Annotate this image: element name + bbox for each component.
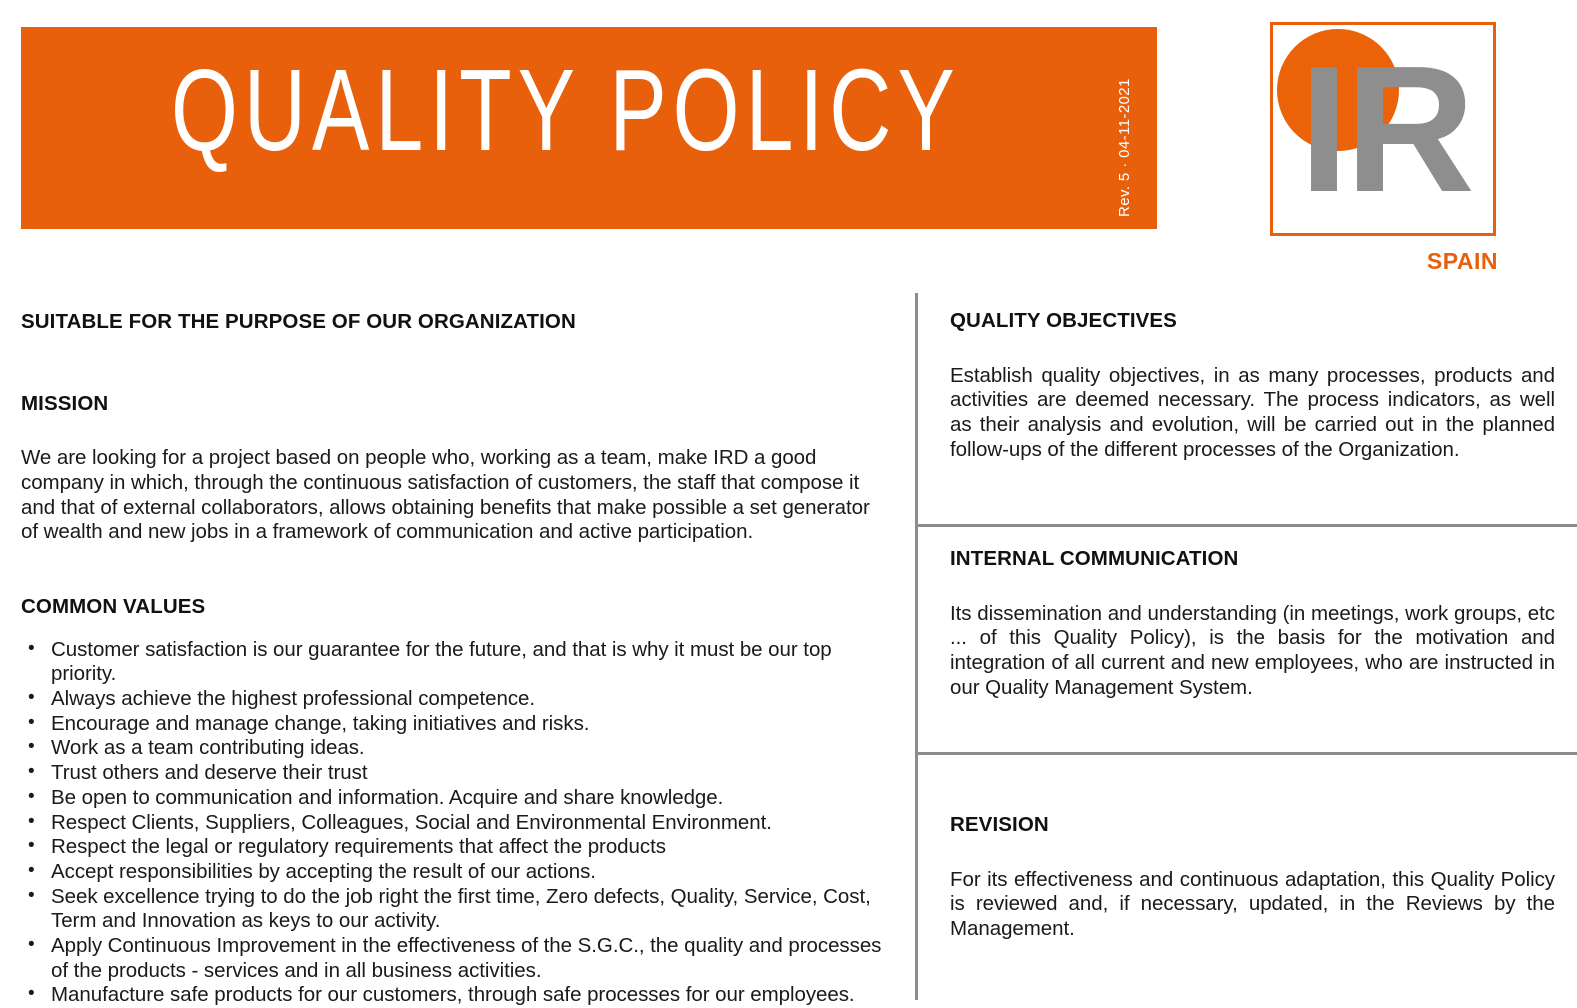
page-title: QUALITY POLICY — [171, 53, 961, 169]
revision-stamp: Rev. 5 · 04-11-2021 — [1107, 63, 1133, 233]
list-item: Respect the legal or regulatory requirem… — [21, 835, 891, 860]
mission-heading: MISSION — [21, 392, 891, 417]
quality-objectives-text: Establish quality objectives, in as many… — [950, 364, 1555, 463]
internal-communication-text: Its dissemination and understanding (in … — [950, 602, 1555, 701]
list-item: Manufacture safe products for our custom… — [21, 983, 891, 1008]
logo-frame: IR — [1270, 22, 1496, 236]
list-item: Apply Continuous Improvement in the effe… — [21, 934, 891, 983]
right-column: QUALITY OBJECTIVES Establish quality obj… — [918, 293, 1577, 1000]
list-item: Seek excellence trying to do the job rig… — [21, 885, 891, 934]
list-item: Be open to communication and information… — [21, 786, 891, 811]
list-item: Respect Clients, Suppliers, Colleagues, … — [21, 811, 891, 836]
list-item: Accept responsibilities by accepting the… — [21, 860, 891, 885]
list-item: Always achieve the highest professional … — [21, 687, 891, 712]
left-column-title: SUITABLE FOR THE PURPOSE OF OUR ORGANIZA… — [21, 310, 891, 335]
common-values-list: Customer satisfaction is our guarantee f… — [21, 638, 891, 1008]
document-body: SUITABLE FOR THE PURPOSE OF OUR ORGANIZA… — [0, 293, 1577, 1000]
internal-communication-section: INTERNAL COMMUNICATION Its dissemination… — [950, 547, 1555, 700]
list-item: Work as a team contributing ideas. — [21, 736, 891, 761]
logo-country-label: SPAIN — [1268, 248, 1498, 275]
revision-section: REVISION For its effectiveness and conti… — [950, 813, 1555, 942]
company-logo: IR SPAIN — [1268, 20, 1500, 282]
title-banner: QUALITY POLICY Rev. 5 · 04-11-2021 — [21, 27, 1157, 229]
mission-text: We are looking for a project based on pe… — [21, 446, 891, 545]
internal-communication-heading: INTERNAL COMMUNICATION — [950, 547, 1555, 572]
list-item: Customer satisfaction is our guarantee f… — [21, 638, 891, 687]
revision-text: For its effectiveness and continuous ada… — [950, 868, 1555, 942]
left-column: SUITABLE FOR THE PURPOSE OF OUR ORGANIZA… — [21, 293, 891, 1000]
list-item: Encourage and manage change, taking init… — [21, 712, 891, 737]
document-header: QUALITY POLICY Rev. 5 · 04-11-2021 IR SP… — [0, 0, 1577, 290]
common-values-heading: COMMON VALUES — [21, 595, 891, 620]
quality-objectives-heading: QUALITY OBJECTIVES — [950, 309, 1555, 334]
logo-letters: IR — [1299, 37, 1509, 227]
quality-objectives-section: QUALITY OBJECTIVES Establish quality obj… — [950, 309, 1555, 462]
list-item: Trust others and deserve their trust — [21, 761, 891, 786]
revision-heading: REVISION — [950, 813, 1555, 838]
